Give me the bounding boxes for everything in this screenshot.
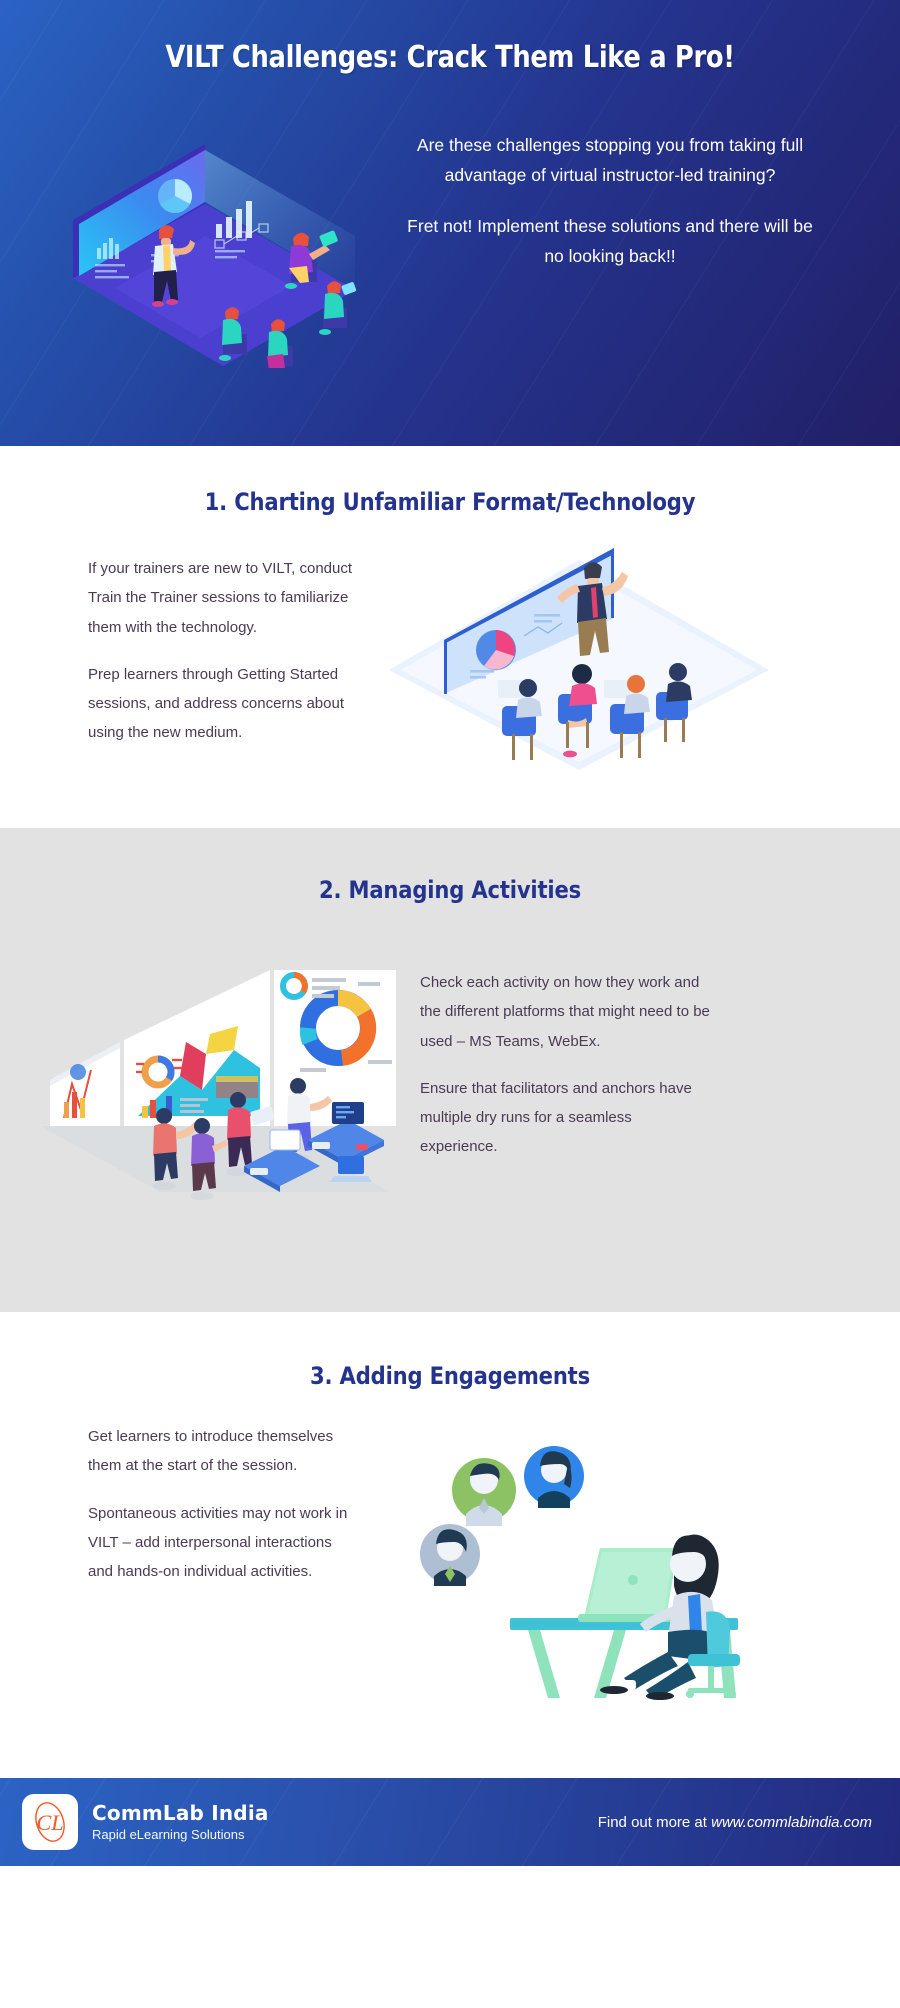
footer-bar: CL CommLab India Rapid eLearning Solutio… (0, 1778, 900, 1866)
section-1-paragraph-2: Prep learners through Getting Started se… (88, 660, 366, 748)
section-1-text: If your trainers are new to VILT, conduc… (88, 554, 366, 748)
avatar-bubble-blue (524, 1446, 584, 1508)
section-3-paragraph-1: Get learners to introduce themselves the… (88, 1422, 358, 1481)
section-2-text: Check each activity on how they work and… (420, 968, 710, 1162)
section-2-paragraph-2: Ensure that facilitators and anchors hav… (420, 1074, 710, 1162)
section-adding-engagements: 3. Adding Engagements Get learners to in… (0, 1312, 900, 1778)
footer-cta-prefix: Find out more at (598, 1814, 711, 1831)
brand-tagline: Rapid eLearning Solutions (92, 1827, 269, 1842)
section-managing-activities: 2. Managing Activities (0, 828, 900, 1312)
commlab-logo-icon: CL (22, 1794, 78, 1850)
avatar-bubble-green (452, 1458, 516, 1526)
section-charting-unfamiliar-format: 1. Charting Unfamiliar Format/Technology… (0, 446, 900, 828)
hero-paragraph-2: Fret not! Implement these solutions and … (400, 211, 820, 271)
section-1-illustration (384, 544, 774, 774)
section-2-illustration (20, 930, 400, 1210)
section-3-paragraph-2: Spontaneous activities may not work in V… (88, 1499, 358, 1587)
footer-website-link[interactable]: www.commlabindia.com (711, 1814, 872, 1831)
section-2-paragraph-1: Check each activity on how they work and… (420, 968, 710, 1056)
hero-subtitle: Are these challenges stopping you from t… (400, 130, 820, 271)
hero-banner: VILT Challenges: Crack Them Like a Pro! (0, 0, 900, 446)
section-3-illustration (388, 1442, 748, 1702)
brand-logo[interactable]: CL CommLab India Rapid eLearning Solutio… (22, 1794, 269, 1850)
footer-cta[interactable]: Find out more at www.commlabindia.com (598, 1814, 872, 1831)
svg-text:CL: CL (36, 1810, 63, 1835)
section-1-paragraph-1: If your trainers are new to VILT, conduc… (88, 554, 366, 642)
section-2-title: 2. Managing Activities (54, 828, 846, 904)
section-3-title: 3. Adding Engagements (54, 1312, 846, 1390)
hero-illustration (55, 128, 375, 368)
page-title: VILT Challenges: Crack Them Like a Pro! (63, 0, 837, 75)
avatar-bubble-gray (420, 1524, 480, 1586)
section-1-title: 1. Charting Unfamiliar Format/Technology (54, 446, 846, 516)
brand-name: CommLab India (92, 1802, 269, 1824)
hero-paragraph-1: Are these challenges stopping you from t… (400, 130, 820, 190)
section-3-text: Get learners to introduce themselves the… (88, 1422, 358, 1586)
infographic-page: VILT Challenges: Crack Them Like a Pro! (0, 0, 900, 1866)
